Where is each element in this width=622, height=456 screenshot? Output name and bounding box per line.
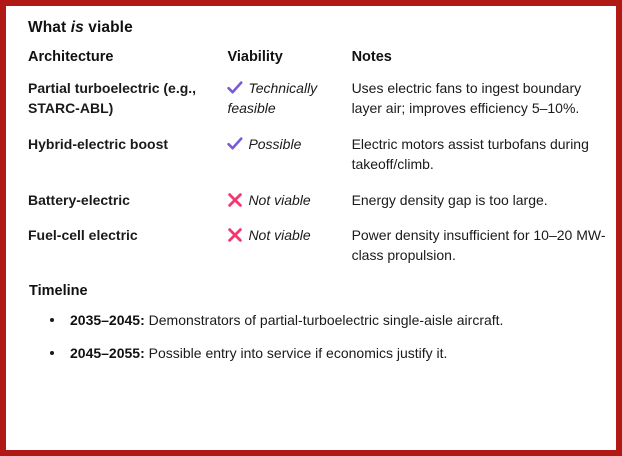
timeline-heading: Timeline bbox=[29, 283, 608, 299]
cell-architecture: Fuel-cell electric bbox=[28, 226, 227, 282]
timeline-text: Demonstrators of partial-turboelectric s… bbox=[145, 312, 504, 328]
viability-label: Possible bbox=[248, 136, 301, 152]
check-icon bbox=[227, 81, 243, 95]
title-trail: viable bbox=[88, 19, 133, 36]
timeline-text: Possible entry into service if economics… bbox=[145, 345, 448, 361]
cell-viability: Technically feasible bbox=[227, 79, 351, 135]
table-row: Fuel-cell electric Not viable Power dens… bbox=[28, 226, 608, 282]
bullet-icon bbox=[50, 351, 54, 355]
viability-table: Architecture Viability Notes Partial tur… bbox=[28, 49, 608, 282]
list-item: 2035–2045: Demonstrators of partial-turb… bbox=[28, 310, 608, 330]
column-header-architecture: Architecture bbox=[28, 49, 227, 79]
viability-label: Not viable bbox=[248, 192, 310, 208]
cell-notes: Electric motors assist turbofans during … bbox=[352, 135, 608, 191]
cell-architecture: Hybrid-electric boost bbox=[28, 135, 227, 191]
cell-notes: Power density insufficient for 10–20 MW-… bbox=[352, 226, 608, 282]
table-row: Hybrid-electric boost Possible Electric … bbox=[28, 135, 608, 191]
table-row: Battery-electric Not viable Energy densi… bbox=[28, 191, 608, 227]
cell-architecture: Battery-electric bbox=[28, 191, 227, 227]
page-title: What is viable bbox=[28, 19, 608, 37]
cross-icon bbox=[227, 193, 243, 207]
viability-label: Not viable bbox=[248, 227, 310, 243]
cell-notes: Uses electric fans to ingest boundary la… bbox=[352, 79, 608, 135]
cell-architecture: Partial turboelectric (e.g., STARC-ABL) bbox=[28, 79, 227, 135]
bullet-icon bbox=[50, 318, 54, 322]
cell-viability: Not viable bbox=[227, 191, 351, 227]
title-lead: What bbox=[28, 19, 66, 36]
list-item: 2045–2055: Possible entry into service i… bbox=[28, 343, 608, 363]
timeline-range: 2045–2055: bbox=[70, 345, 145, 361]
column-header-notes: Notes bbox=[352, 49, 608, 79]
column-header-viability: Viability bbox=[227, 49, 351, 79]
check-icon bbox=[227, 137, 243, 151]
table-row: Partial turboelectric (e.g., STARC-ABL) … bbox=[28, 79, 608, 135]
table-header-row: Architecture Viability Notes bbox=[28, 49, 608, 79]
cross-icon bbox=[227, 228, 243, 242]
timeline-range: 2035–2045: bbox=[70, 312, 145, 328]
viability-card: What is viable Architecture Viability No… bbox=[0, 0, 622, 456]
timeline-list: 2035–2045: Demonstrators of partial-turb… bbox=[28, 310, 608, 363]
title-emphasis: is bbox=[71, 19, 84, 36]
cell-viability: Not viable bbox=[227, 226, 351, 282]
cell-notes: Energy density gap is too large. bbox=[352, 191, 608, 227]
cell-viability: Possible bbox=[227, 135, 351, 191]
